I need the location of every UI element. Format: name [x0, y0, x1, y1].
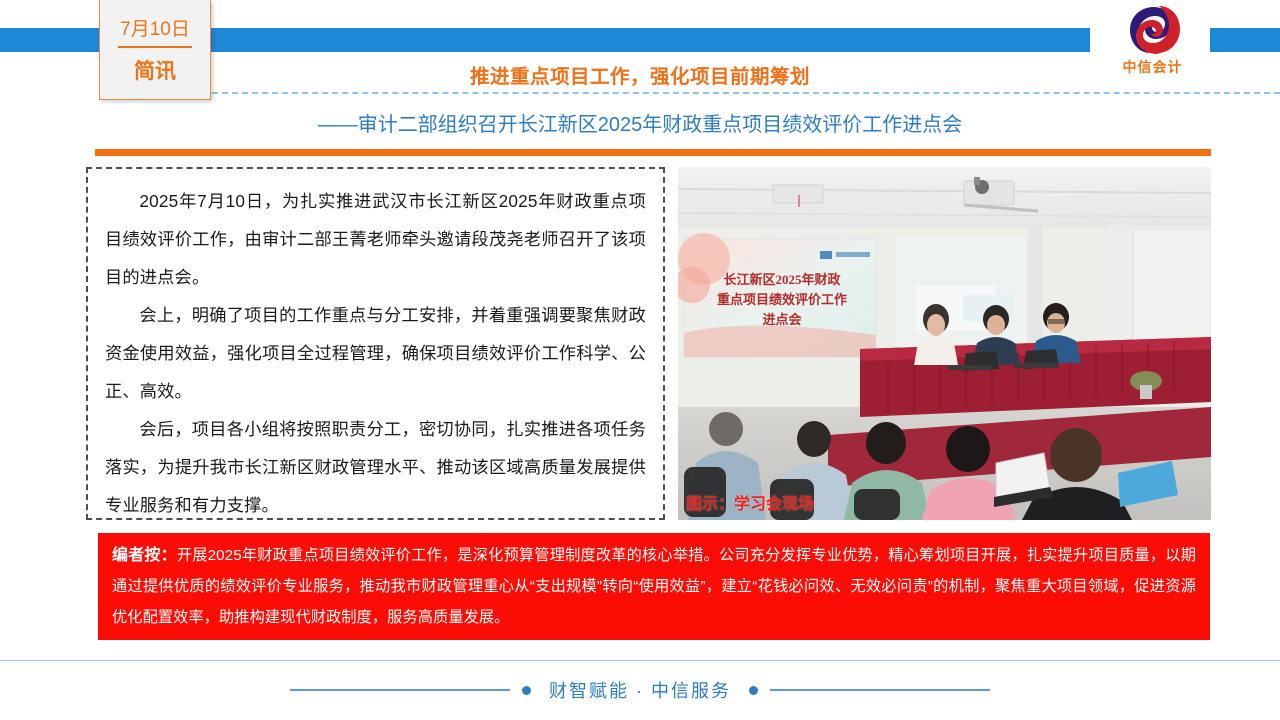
bulletin-page: 7月10日 简讯 中信会计 推进重点项目工作，强化项目前期筹划 ——审计二部组织…	[0, 0, 1280, 720]
orange-divider	[95, 149, 1211, 156]
date-badge-kind: 简讯	[134, 55, 176, 85]
header-blue-bar-left	[0, 28, 100, 52]
logo-text: 中信会计	[1123, 57, 1183, 77]
screen-title-line-1: 长江新区2025年财政	[723, 272, 841, 287]
footer-dot-left	[522, 686, 531, 695]
page-subtitle: ——审计二部组织召开长江新区2025年财政重点项目绩效评价工作进点会	[0, 108, 1280, 137]
editor-note-body: 开展2025年财政重点项目绩效评价工作，是深化预算管理制度改革的核心举措。公司充…	[112, 547, 1196, 626]
editor-note-box: 编者按：开展2025年财政重点项目绩效评价工作，是深化预算管理制度改革的核心举措…	[98, 533, 1210, 640]
footer-line-right	[770, 689, 990, 691]
screen-title-line-3: 进点会	[762, 312, 802, 327]
article-paragraph: 会上，明确了项目的工作重点与分工安排，并着重强调要聚焦财政资金使用效益，强化项目…	[105, 296, 646, 410]
editor-note-text: 编者按：开展2025年财政重点项目绩效评价工作，是深化预算管理制度改革的核心举措…	[112, 540, 1196, 633]
article-paragraph: 2025年7月10日，为扎实推进武汉市长江新区2025年财政重点项目绩效评价工作…	[105, 182, 646, 296]
header-blue-bar-right	[1200, 28, 1280, 52]
meeting-photo: 长江新区2025年财政 重点项目绩效评价工作 进点会	[678, 167, 1211, 520]
meeting-photo-illustration: 长江新区2025年财政 重点项目绩效评价工作 进点会	[678, 167, 1211, 520]
footer-line-left	[290, 689, 510, 691]
footer-divider	[0, 660, 1280, 661]
photo-caption: 图示：学习会现场	[686, 490, 814, 514]
editor-note-label: 编者按：	[112, 547, 177, 564]
company-logo: 中信会计	[1095, 4, 1210, 82]
date-badge-date: 7月10日	[120, 14, 190, 44]
logo-swirl-icon	[1124, 4, 1182, 56]
date-badge: 7月10日 简讯	[99, 0, 211, 100]
article-text-box: 2025年7月10日，为扎实推进武汉市长江新区2025年财政重点项目绩效评价工作…	[86, 167, 665, 520]
date-badge-divider	[118, 46, 192, 48]
footer: 财智赋能 · 中信服务	[0, 668, 1280, 712]
article-paragraph: 会后，项目各小组将按照职责分工，密切协同，扎实推进各项任务落实，为提升我市长江新…	[105, 410, 646, 524]
header-blue-bar-middle	[210, 28, 1090, 52]
screen-title-line-2: 重点项目绩效评价工作	[717, 292, 847, 307]
footer-slogan: 财智赋能 · 中信服务	[543, 677, 737, 703]
footer-dot-right	[749, 686, 758, 695]
header-dashed-divider	[212, 92, 1280, 94]
